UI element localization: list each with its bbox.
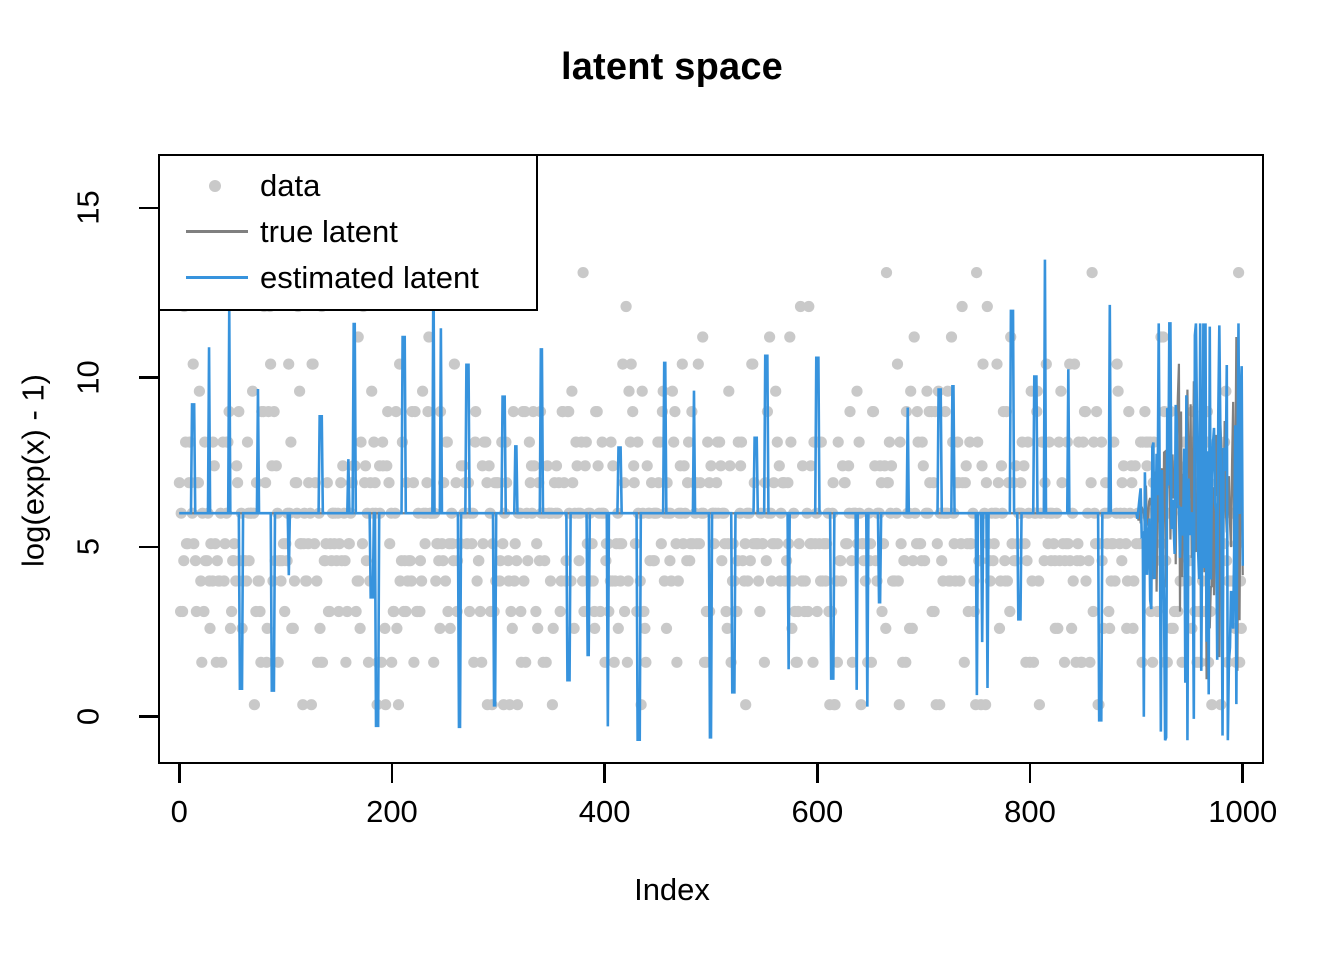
legend-entry-estimated-latent: estimated latent [160,254,536,300]
data-point-icon [209,180,221,192]
x-tick-label: 800 [960,796,1100,827]
legend-label-data: data [260,169,320,203]
x-tick-label: 600 [747,796,887,827]
chart-figure: latent space log(exp(x) - 1) Index 02004… [0,0,1344,960]
y-tick-mark [139,546,158,549]
y-tick-label: 5 [73,507,104,587]
y-tick-mark [139,207,158,210]
true-latent-line-icon [186,230,248,233]
y-tick-label: 15 [73,168,104,248]
x-tick-label: 1000 [1173,796,1313,827]
chart-legend: data true latent estimated latent [158,154,538,311]
estimated-latent-path [179,244,1242,740]
x-axis-label: Index [0,874,1344,905]
x-tick-mark [391,764,394,783]
y-tick-label: 10 [73,337,104,417]
legend-key-data [178,162,254,208]
legend-label-true-latent: true latent [260,215,398,249]
legend-key-estimated-latent [178,254,254,300]
legend-key-true-latent [178,208,254,254]
x-tick-mark [1029,764,1032,783]
y-axis-label: log(exp(x) - 1) [18,321,49,621]
y-tick-mark [139,715,158,718]
x-tick-label: 400 [535,796,675,827]
legend-entry-true-latent: true latent [160,208,536,254]
chart-title: latent space [0,48,1344,86]
x-tick-mark [816,764,819,783]
x-tick-mark [178,764,181,783]
legend-label-estimated-latent: estimated latent [260,261,479,295]
y-tick-label: 0 [73,676,104,756]
x-tick-mark [603,764,606,783]
x-tick-label: 200 [322,796,462,827]
x-tick-mark [1241,764,1244,783]
x-tick-label: 0 [109,796,249,827]
legend-entry-data: data [160,162,536,208]
y-tick-mark [139,376,158,379]
estimated-latent-line-icon [186,276,248,279]
